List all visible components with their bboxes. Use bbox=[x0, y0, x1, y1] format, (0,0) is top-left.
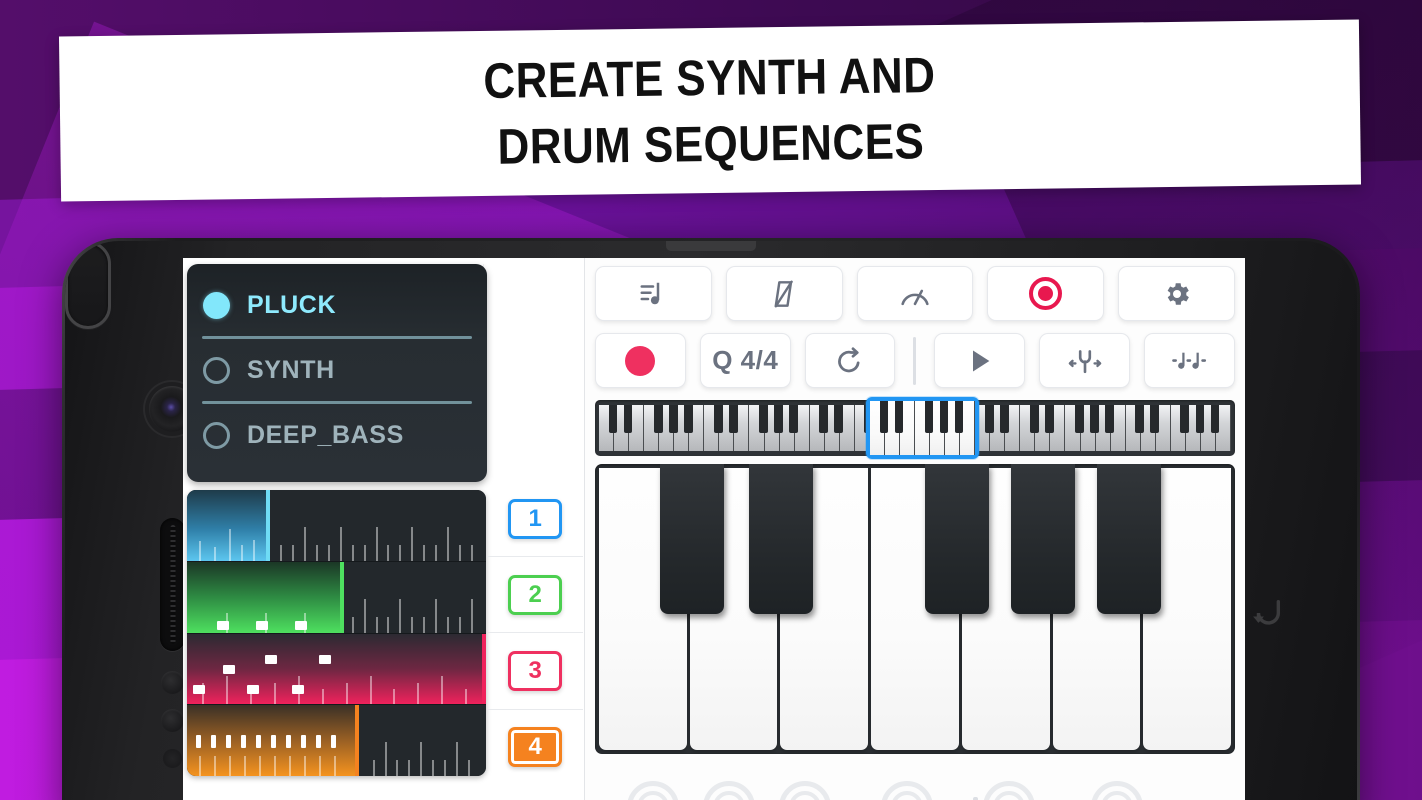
pattern-button-2[interactable]: 2 bbox=[508, 575, 562, 615]
headline-banner: CREATE SYNTH AND DRUM SEQUENCES bbox=[59, 19, 1361, 201]
overview-black-key bbox=[864, 405, 873, 433]
note-length-icon bbox=[1171, 347, 1209, 375]
piano-black-key[interactable] bbox=[749, 464, 813, 614]
track-unselected-dot-icon bbox=[203, 357, 230, 384]
track-divider bbox=[202, 336, 472, 339]
pattern-ruler bbox=[187, 490, 486, 561]
piano-black-key[interactable] bbox=[925, 464, 989, 614]
overview-black-key bbox=[759, 405, 768, 433]
gear-icon bbox=[1162, 279, 1192, 309]
control-knob[interactable] bbox=[881, 781, 933, 800]
overview-black-key bbox=[819, 405, 828, 433]
overview-white-key bbox=[644, 405, 659, 451]
track-name-label: SYNTH bbox=[247, 356, 335, 385]
pattern-thumbnails[interactable] bbox=[187, 490, 486, 776]
overview-black-key bbox=[714, 405, 723, 433]
track-divider bbox=[202, 401, 472, 404]
left-panel: PLUCK SYNTH DEEP_BASS bbox=[183, 258, 585, 800]
overview-black-key bbox=[1150, 405, 1159, 433]
overview-white-key bbox=[1126, 405, 1141, 451]
quantize-label: Q 4/4 bbox=[712, 345, 778, 376]
track-name-label: PLUCK bbox=[247, 291, 336, 320]
track-selected-dot-icon bbox=[203, 292, 230, 319]
overview-black-key bbox=[1105, 405, 1114, 433]
overview-white-key bbox=[1020, 405, 1035, 451]
pattern-button-divider bbox=[487, 709, 583, 710]
overview-black-key bbox=[925, 405, 934, 433]
pattern-button-divider bbox=[487, 632, 583, 633]
overview-black-key bbox=[880, 405, 889, 433]
mute-slash-icon bbox=[770, 279, 798, 309]
light-sensor-icon bbox=[161, 709, 184, 732]
transport-toolbar: Q 4/4 bbox=[595, 333, 1235, 388]
overview-black-key bbox=[834, 405, 843, 433]
speaker-grille-icon bbox=[160, 518, 185, 651]
pattern-track-4[interactable] bbox=[187, 705, 486, 776]
piano-black-key[interactable] bbox=[1011, 464, 1075, 614]
track-list-panel: PLUCK SYNTH DEEP_BASS bbox=[187, 264, 487, 482]
overview-black-key bbox=[1045, 405, 1054, 433]
overview-black-key bbox=[1180, 405, 1189, 433]
overview-black-key bbox=[1075, 405, 1084, 433]
sidebar-item-synth[interactable]: SYNTH bbox=[187, 339, 487, 401]
overview-black-key bbox=[729, 405, 738, 433]
sidebar-item-deep-bass[interactable]: DEEP_BASS bbox=[187, 404, 487, 466]
track-list-note-icon bbox=[638, 279, 668, 309]
overview-white-key bbox=[749, 405, 764, 451]
piano-black-key[interactable] bbox=[1097, 464, 1161, 614]
tempo-gauge-icon bbox=[899, 279, 931, 309]
pattern-button-1[interactable]: 1 bbox=[508, 499, 562, 539]
control-knob[interactable] bbox=[779, 781, 831, 800]
overview-white-key bbox=[1065, 405, 1080, 451]
overview-black-key bbox=[1030, 405, 1039, 433]
sidebar-item-pluck[interactable]: PLUCK bbox=[187, 274, 487, 336]
record-circle-icon bbox=[1029, 277, 1062, 310]
overview-white-key bbox=[810, 405, 825, 451]
overview-white-key bbox=[960, 405, 975, 451]
keyboard-overview-keys bbox=[599, 405, 1231, 451]
overview-white-key bbox=[855, 405, 870, 451]
home-nav-button[interactable] bbox=[65, 241, 111, 329]
piano-keyboard[interactable] bbox=[595, 464, 1235, 754]
back-nav-icon[interactable] bbox=[1250, 596, 1284, 630]
overview-black-key bbox=[1196, 405, 1205, 433]
overview-black-key bbox=[1090, 405, 1099, 433]
left-bottom-controls bbox=[183, 783, 584, 800]
piano-black-key[interactable] bbox=[660, 464, 724, 614]
pattern-selector-buttons: 1 2 3 4 bbox=[486, 490, 584, 776]
note-length-button[interactable] bbox=[1144, 333, 1235, 388]
overview-black-key bbox=[985, 405, 994, 433]
overview-black-key bbox=[654, 405, 663, 433]
track-unselected-dot-icon bbox=[203, 422, 230, 449]
overview-black-key bbox=[789, 405, 798, 433]
overview-black-key bbox=[684, 405, 693, 433]
pattern-track-3[interactable] bbox=[187, 634, 486, 706]
phone-device: PLUCK SYNTH DEEP_BASS bbox=[62, 238, 1360, 800]
earpiece-notch bbox=[666, 241, 756, 251]
led-indicator-icon bbox=[163, 749, 182, 768]
pattern-button-divider bbox=[487, 556, 583, 557]
overview-black-key bbox=[1211, 405, 1220, 433]
record-button[interactable] bbox=[595, 333, 686, 388]
record-dot-icon bbox=[625, 346, 655, 376]
mute-button[interactable] bbox=[726, 266, 843, 321]
settings-button[interactable] bbox=[1118, 266, 1235, 321]
app-screen: PLUCK SYNTH DEEP_BASS bbox=[183, 258, 1245, 800]
headline-line-1: CREATE SYNTH AND bbox=[483, 42, 936, 114]
track-name-label: DEEP_BASS bbox=[247, 421, 404, 450]
pattern-area: 1 2 3 4 bbox=[183, 490, 584, 780]
overview-black-key bbox=[940, 405, 949, 433]
overview-black-key bbox=[774, 405, 783, 433]
control-knob[interactable] bbox=[627, 781, 679, 800]
proximity-sensor-icon bbox=[161, 671, 184, 694]
top-toolbar bbox=[595, 266, 1235, 321]
tuning-fork-arrows-icon bbox=[1067, 347, 1103, 375]
overview-black-key bbox=[970, 405, 979, 433]
pattern-track-1[interactable] bbox=[187, 490, 486, 562]
overview-black-key bbox=[895, 405, 904, 433]
record-arm-button[interactable] bbox=[987, 266, 1104, 321]
pattern-ruler bbox=[187, 705, 486, 776]
pattern-track-2[interactable] bbox=[187, 562, 486, 634]
overview-white-key bbox=[1171, 405, 1186, 451]
play-icon bbox=[966, 347, 994, 375]
overview-white-key bbox=[599, 405, 614, 451]
pattern-ruler bbox=[187, 562, 486, 633]
pattern-button-4[interactable]: 4 bbox=[508, 727, 562, 767]
control-knob[interactable] bbox=[983, 781, 1035, 800]
overview-white-key bbox=[915, 405, 930, 451]
undo-arrow-icon bbox=[835, 346, 865, 376]
control-knob[interactable] bbox=[1091, 781, 1143, 800]
quantize-button[interactable]: Q 4/4 bbox=[700, 333, 791, 388]
headline-line-2: DRUM SEQUENCES bbox=[497, 108, 924, 180]
tempo-button[interactable] bbox=[857, 266, 974, 321]
tune-button[interactable] bbox=[1039, 333, 1130, 388]
track-list-button[interactable] bbox=[595, 266, 712, 321]
overview-black-key bbox=[624, 405, 633, 433]
overview-black-key bbox=[669, 405, 678, 433]
overview-black-key bbox=[1135, 405, 1144, 433]
overview-black-key bbox=[1000, 405, 1009, 433]
play-button[interactable] bbox=[934, 333, 1025, 388]
overview-black-key bbox=[609, 405, 618, 433]
right-panel: Q 4/4 bbox=[585, 258, 1245, 800]
pattern-button-3[interactable]: 3 bbox=[508, 651, 562, 691]
phone-body: PLUCK SYNTH DEEP_BASS bbox=[65, 241, 1357, 800]
keyboard-overview[interactable] bbox=[595, 400, 1235, 456]
control-knob[interactable] bbox=[703, 781, 755, 800]
undo-button[interactable] bbox=[805, 333, 896, 388]
toolbar-divider bbox=[913, 337, 916, 385]
overview-white-key bbox=[704, 405, 719, 451]
